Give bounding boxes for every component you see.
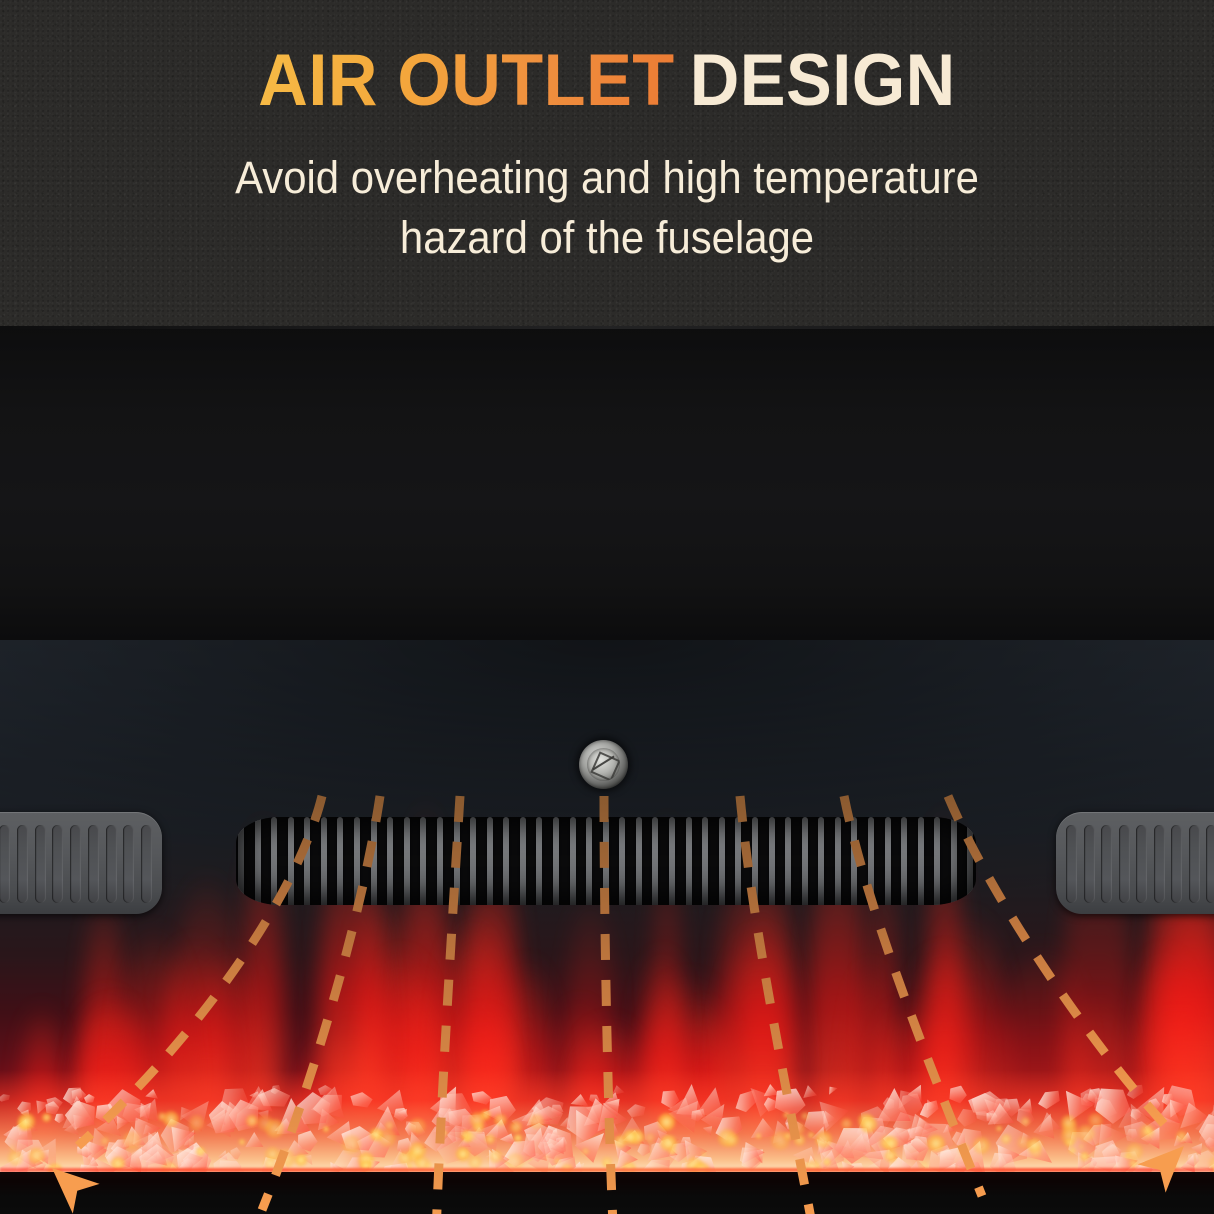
ember-hotspot xyxy=(544,1154,550,1160)
grille-slat xyxy=(304,817,310,905)
grille-slat xyxy=(818,817,824,905)
grille-slot xyxy=(141,825,152,903)
left-grille-slots xyxy=(0,825,152,903)
grille-slat xyxy=(420,817,426,905)
grille-slat xyxy=(735,817,741,905)
ember-hotspot xyxy=(783,1112,790,1119)
grille-slat xyxy=(769,817,775,905)
grille-slot xyxy=(1206,825,1214,903)
grille-slat xyxy=(586,817,592,905)
ember-hotspot xyxy=(239,1139,245,1145)
ember-hotspot xyxy=(8,1150,23,1165)
grille-slot xyxy=(1189,825,1200,903)
center-air-outlet-grille xyxy=(236,817,976,905)
grille-slot xyxy=(70,825,81,903)
grille-slat xyxy=(752,817,758,905)
fireplace-base-strip xyxy=(0,1172,1214,1214)
grille-slat xyxy=(487,817,493,905)
grille-slat xyxy=(337,817,343,905)
ember-hotspot xyxy=(1129,1159,1138,1168)
ember-hotspot xyxy=(885,1150,897,1162)
ember-hotspot xyxy=(725,1133,739,1147)
grille-slat xyxy=(967,817,973,905)
ember-hotspot xyxy=(996,1126,1001,1131)
ember-hotspot xyxy=(277,1149,295,1167)
ember-hotspot xyxy=(295,1154,307,1166)
grille-slot xyxy=(106,825,117,903)
grille-slat xyxy=(934,817,940,905)
grille-slat xyxy=(951,817,957,905)
grille-slot xyxy=(1171,825,1182,903)
grille-slat xyxy=(802,817,808,905)
ember-hotspot xyxy=(808,1132,814,1138)
grille-slot xyxy=(1066,825,1077,903)
grille-slot xyxy=(123,825,134,903)
grille-slat xyxy=(404,817,410,905)
flame-chamber xyxy=(0,640,1214,1214)
heater-front-panel xyxy=(0,326,1214,640)
ember-hotspot xyxy=(582,1148,589,1155)
grille-slat xyxy=(636,817,642,905)
grille-slat xyxy=(669,817,675,905)
ember-hotspot xyxy=(791,1122,805,1136)
ember-hotspot xyxy=(756,1133,761,1138)
right-grille-slots xyxy=(1066,825,1214,903)
ember-hotspot xyxy=(1146,1129,1151,1134)
ember-hotspot xyxy=(1126,1143,1143,1160)
product-feature-image: AIR OUTLETDESIGN Avoid overheating and h… xyxy=(0,0,1214,1214)
grille-slat xyxy=(686,817,692,905)
grille-slot xyxy=(1119,825,1130,903)
grille-slat xyxy=(238,817,244,905)
grille-slat xyxy=(918,817,924,905)
grille-slat xyxy=(255,817,261,905)
screw-inner-ring xyxy=(587,748,620,781)
ember-hotspot xyxy=(860,1116,877,1133)
grille-slat xyxy=(387,817,393,905)
page-title-rest: DESIGN xyxy=(690,40,956,121)
grille-slat xyxy=(570,817,576,905)
grille-slat xyxy=(835,817,841,905)
center-screw-emblem xyxy=(579,740,628,789)
grille-slot xyxy=(1084,825,1095,903)
ember-hotspot xyxy=(959,1144,970,1155)
grille-slat xyxy=(454,817,460,905)
grille-slat xyxy=(652,817,658,905)
grille-slot xyxy=(1154,825,1165,903)
grille-slat xyxy=(288,817,294,905)
ember-hotspot xyxy=(257,1115,273,1131)
ember-hotspot xyxy=(398,1151,412,1165)
grille-slat xyxy=(719,817,725,905)
grille-slat xyxy=(354,817,360,905)
ember-hotspot xyxy=(189,1115,205,1131)
grille-slot xyxy=(52,825,63,903)
grille-slat xyxy=(885,817,891,905)
panel-top-highlight xyxy=(0,326,1214,329)
ember-hotspot xyxy=(841,1118,852,1129)
page-title: AIR OUTLETDESIGN xyxy=(36,44,1177,117)
ember-hotspot xyxy=(884,1136,899,1151)
center-grille-slats xyxy=(236,817,976,905)
grille-slot xyxy=(1136,825,1147,903)
page-subtitle-line-1: Avoid overheating and high temperature xyxy=(42,148,1171,208)
grille-slat xyxy=(603,817,609,905)
grille-slat xyxy=(503,817,509,905)
ember-hotspot xyxy=(385,1121,394,1130)
ember-hotspot xyxy=(1176,1131,1187,1142)
header-banner: AIR OUTLETDESIGN Avoid overheating and h… xyxy=(0,0,1214,326)
ember-hotspot xyxy=(973,1137,989,1153)
ember-hotspot xyxy=(342,1135,361,1154)
grille-slat xyxy=(901,817,907,905)
grille-slat xyxy=(553,817,559,905)
glass-crystal-ember-bed xyxy=(0,1070,1214,1172)
grille-slot xyxy=(88,825,99,903)
ember-hotspot xyxy=(510,1121,522,1133)
grille-slat xyxy=(520,817,526,905)
ember-hotspot xyxy=(246,1115,258,1127)
grille-slat xyxy=(470,817,476,905)
grille-slot xyxy=(0,825,10,903)
ember-hotspot xyxy=(409,1118,426,1135)
ember-hotspot xyxy=(669,1148,676,1155)
grille-slat xyxy=(371,817,377,905)
ember-hotspot xyxy=(470,1112,485,1127)
page-subtitle-line-2: hazard of the fuselage xyxy=(42,208,1171,268)
ember-hotspot xyxy=(1021,1117,1030,1126)
grille-slat xyxy=(785,817,791,905)
product-photo xyxy=(0,326,1214,1214)
ember-hotspot xyxy=(658,1113,675,1130)
grille-slot xyxy=(1101,825,1112,903)
ember-hotspot xyxy=(801,1112,809,1120)
ember-hotspot xyxy=(623,1130,637,1144)
page-subtitle: Avoid overheating and high temperature h… xyxy=(42,148,1171,268)
grille-slat xyxy=(619,817,625,905)
grille-slat xyxy=(868,817,874,905)
ember-hotspot xyxy=(466,1131,476,1141)
grille-slat xyxy=(851,817,857,905)
right-air-outlet-grille xyxy=(1056,812,1214,914)
page-title-highlight: AIR OUTLET xyxy=(258,40,674,121)
ember-hotspot xyxy=(529,1114,544,1129)
ember-hotspot xyxy=(489,1150,501,1162)
ember-hotspot xyxy=(1077,1125,1095,1143)
ember-hotspot xyxy=(28,1148,44,1164)
ember-hotspot xyxy=(1065,1138,1074,1147)
ember-hotspot xyxy=(1088,1113,1103,1128)
grille-slot xyxy=(35,825,46,903)
ember-hotspot xyxy=(158,1112,166,1120)
grille-slat xyxy=(702,817,708,905)
grille-slat xyxy=(437,817,443,905)
ember-hotspot xyxy=(1027,1138,1042,1153)
grille-slat xyxy=(321,817,327,905)
grille-slot xyxy=(17,825,28,903)
grille-slat xyxy=(271,817,277,905)
grille-slat xyxy=(536,817,542,905)
left-air-outlet-grille xyxy=(0,812,162,914)
